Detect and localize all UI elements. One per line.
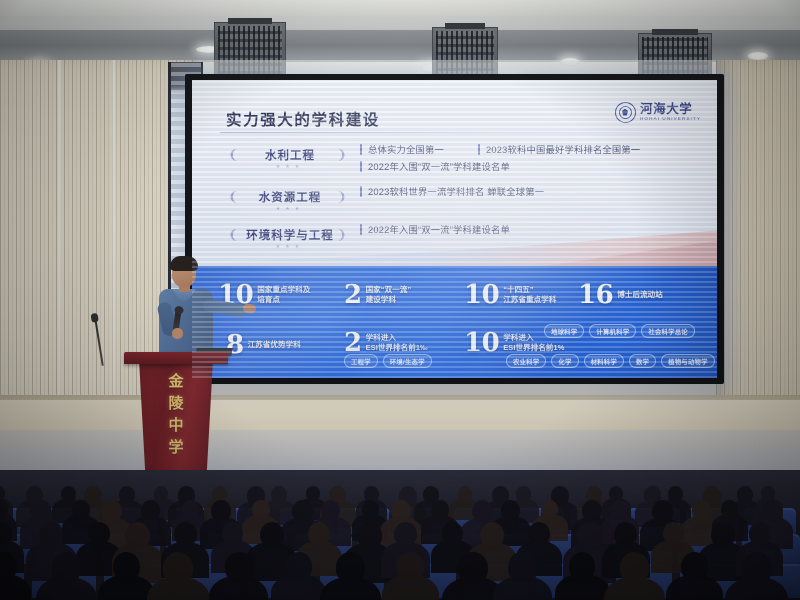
audience-head bbox=[663, 522, 684, 544]
fact-text: 2023软科中国最好学科排名全国第一 bbox=[486, 142, 640, 156]
presenter-hair bbox=[170, 256, 198, 271]
audience-head bbox=[742, 552, 772, 584]
audience-head bbox=[61, 486, 76, 502]
fact-tick bbox=[478, 144, 480, 155]
audience-head bbox=[762, 500, 782, 521]
audience-head bbox=[321, 500, 340, 520]
stat-label: “十四五”江苏省重点学科 bbox=[503, 285, 556, 304]
audience-head bbox=[681, 552, 708, 581]
photo-scene: 实力强大的学科建设 河海大学 HOHAI UNIVERSITY ❨水利工程❩★★… bbox=[0, 0, 800, 600]
stat-label-line: 江苏省优势学科 bbox=[248, 340, 301, 350]
audience-head bbox=[721, 500, 738, 518]
ceiling-upper-slab bbox=[0, 0, 800, 16]
stat-label: 江苏省优势学科 bbox=[248, 340, 301, 350]
audience-head bbox=[611, 500, 629, 519]
fact-text: 2022年入围“双一流”学科建设名单 bbox=[368, 159, 510, 173]
audience-head bbox=[39, 522, 63, 547]
audience-head bbox=[711, 522, 735, 547]
fact-tick bbox=[360, 144, 362, 155]
audience-head bbox=[88, 522, 110, 545]
audience-head bbox=[569, 552, 595, 580]
audience-head bbox=[125, 522, 150, 549]
audience-head bbox=[761, 486, 775, 501]
presenter-mic-hand bbox=[172, 328, 183, 339]
stat-label: 学科进入ESI世界排名前1‰ bbox=[366, 333, 428, 352]
audience-head bbox=[431, 500, 449, 519]
subject-pill: 工程学 bbox=[344, 354, 378, 368]
audience-head bbox=[154, 486, 168, 501]
audience-head bbox=[292, 500, 313, 522]
lectern-top bbox=[124, 352, 228, 364]
audience-head bbox=[692, 500, 711, 520]
audience-head bbox=[260, 522, 284, 547]
discipline-badge: ❨环境科学与工程❩★★★ bbox=[226, 222, 354, 247]
audience-head bbox=[501, 500, 520, 520]
audience-head bbox=[336, 552, 365, 583]
discipline-badge: ❨水利工程❩★★★ bbox=[226, 142, 354, 167]
audience-head bbox=[472, 500, 493, 522]
fact-text: 2023软科世界一流学科排名 蝉联全球第一 bbox=[368, 184, 544, 198]
slide-title: 实力强大的学科建设 bbox=[226, 108, 380, 130]
audience-head bbox=[357, 522, 382, 549]
esi-permille-pill-row: 工程学环境/生态学 bbox=[344, 354, 432, 368]
audience-head bbox=[394, 522, 417, 546]
audience-head bbox=[652, 500, 673, 522]
audience-head bbox=[72, 500, 90, 519]
title-divider bbox=[220, 132, 690, 133]
fact-text: 2022年入围“双一流”学科建设名单 bbox=[368, 222, 510, 236]
stat-item: 2学科进入ESI世界排名前1‰ bbox=[344, 330, 428, 356]
fact-item: 2023软科世界一流学科排名 蝉联全球第一 bbox=[360, 184, 544, 198]
speaker-mount bbox=[228, 18, 273, 24]
discipline-name: 环境科学与工程 bbox=[246, 227, 334, 243]
university-logo: 河海大学 HOHAI UNIVERSITY bbox=[615, 102, 701, 123]
stat-number: 10 bbox=[464, 330, 499, 356]
ceiling-downlight bbox=[748, 52, 768, 60]
audience-head bbox=[620, 552, 649, 583]
discipline-facts: 2023软科世界一流学科排名 蝉联全球第一 bbox=[360, 184, 544, 198]
stat-label-line: 博士后流动站 bbox=[617, 290, 663, 300]
discipline-row: ❨环境科学与工程❩★★★2022年入围“双一流”学科建设名单 bbox=[226, 222, 510, 247]
stat-label-line: 学科进入 bbox=[366, 333, 428, 343]
subject-pill: 农业科学 bbox=[506, 354, 546, 368]
badge-stars-icon: ★★★ bbox=[276, 244, 304, 250]
audience-head bbox=[749, 522, 771, 545]
laurel-right-icon: ❩ bbox=[336, 224, 352, 245]
speaker-mount bbox=[445, 23, 486, 29]
auditorium-seats bbox=[0, 478, 800, 600]
audience-head bbox=[182, 500, 199, 518]
audience-head bbox=[163, 552, 193, 584]
subject-pill: 环境/生态学 bbox=[383, 354, 432, 368]
esi-percent-pill-row-2: 农业科学化学材料科学数学植物与动物学 bbox=[506, 354, 715, 368]
subject-pill: 化学 bbox=[551, 354, 578, 368]
audience-head bbox=[31, 500, 51, 521]
audience-head bbox=[614, 522, 637, 546]
stat-number: 10 bbox=[464, 282, 499, 308]
audience-head bbox=[582, 500, 602, 521]
discipline-facts: 总体实力全国第一2023软科中国最好学科排名全国第一2022年入围“双一流”学科… bbox=[360, 142, 640, 173]
stat-label-line: 国家重点学科及 bbox=[257, 285, 310, 295]
audience-head bbox=[737, 486, 753, 503]
lectern-character: 陵 bbox=[168, 396, 183, 411]
audience-head bbox=[211, 500, 231, 521]
discipline-badge: ❨水资源工程❩★★★ bbox=[226, 184, 354, 209]
stat-number: 16 bbox=[578, 282, 613, 308]
esi-percent-pill-row-1: 地球科学计算机科学社会科学总论 bbox=[544, 324, 695, 338]
laurel-left-icon: ❨ bbox=[228, 144, 244, 165]
stat-label-line: “十四五” bbox=[503, 285, 556, 295]
lectern-school-name: 金陵中学 bbox=[130, 374, 222, 455]
stat-label-line: 江苏省重点学科 bbox=[503, 295, 556, 305]
stat-label-line: 建设学科 bbox=[366, 295, 412, 305]
stat-number: 2 bbox=[344, 330, 362, 356]
audience-head bbox=[458, 486, 472, 501]
discipline-row: ❨水利工程❩★★★总体实力全国第一2023软科中国最好学科排名全国第一2022年… bbox=[226, 142, 640, 173]
hohai-crest-icon bbox=[615, 102, 636, 123]
lectern-character: 学 bbox=[168, 440, 183, 455]
audience-head bbox=[308, 522, 330, 545]
badge-stars-icon: ★★★ bbox=[276, 164, 304, 170]
stat-label-line: ESI世界排名前1‰ bbox=[366, 343, 428, 353]
laurel-left-icon: ❨ bbox=[228, 186, 244, 207]
discipline-facts: 2022年入围“双一流”学科建设名单 bbox=[360, 222, 510, 236]
fact-item: 2022年入围“双一流”学科建设名单 bbox=[360, 222, 510, 236]
fact-item: 总体实力全国第一2023软科中国最好学科排名全国第一 bbox=[360, 142, 640, 156]
stat-number: 2 bbox=[344, 282, 362, 308]
laurel-right-icon: ❩ bbox=[336, 186, 352, 207]
stat-label-line: 国家“双一流” bbox=[366, 285, 412, 295]
audience-head bbox=[397, 552, 424, 581]
fact-tick bbox=[360, 224, 362, 235]
audience-head bbox=[271, 486, 287, 503]
subject-pill: 植物与动物学 bbox=[661, 354, 715, 368]
fact-tick bbox=[360, 161, 362, 172]
statistics-band: 10国家重点学科及培育点2国家“双一流”建设学科10“十四五”江苏省重点学科16… bbox=[192, 266, 717, 378]
logo-name-en: HOHAI UNIVERSITY bbox=[640, 117, 701, 122]
audience-head bbox=[528, 522, 550, 545]
subject-pill: 社会科学总论 bbox=[641, 324, 695, 338]
presenter bbox=[148, 258, 244, 362]
laurel-left-icon: ❨ bbox=[228, 224, 244, 245]
laurel-right-icon: ❩ bbox=[336, 144, 352, 165]
stat-item: 2国家“双一流”建设学科 bbox=[344, 282, 411, 308]
audience-head bbox=[119, 486, 135, 503]
stat-label: 国家“双一流”建设学科 bbox=[366, 285, 412, 304]
audience-head bbox=[668, 486, 683, 502]
auditorium-room: 实力强大的学科建设 河海大学 HOHAI UNIVERSITY ❨水利工程❩★★… bbox=[0, 0, 800, 600]
audience-head bbox=[286, 552, 312, 580]
lectern-character: 中 bbox=[168, 418, 183, 433]
subject-pill: 材料科学 bbox=[584, 354, 624, 368]
audience-head bbox=[541, 500, 558, 518]
discipline-row: ❨水资源工程❩★★★2023软科世界一流学科排名 蝉联全球第一 bbox=[226, 184, 544, 209]
audience-head bbox=[225, 552, 253, 582]
stat-label: 博士后流动站 bbox=[617, 290, 663, 300]
stat-label-line: 培育点 bbox=[257, 295, 310, 305]
audience-head bbox=[508, 552, 536, 582]
subject-pill: 地球科学 bbox=[544, 324, 584, 338]
logo-name-cn: 河海大学 bbox=[640, 103, 701, 116]
audience-head bbox=[101, 500, 122, 522]
presentation-slide: 实力强大的学科建设 河海大学 HOHAI UNIVERSITY ❨水利工程❩★★… bbox=[192, 80, 717, 378]
audience-head bbox=[306, 486, 320, 501]
subject-pill: 计算机科学 bbox=[589, 324, 636, 338]
stat-item: 16博士后流动站 bbox=[578, 282, 663, 308]
audience-head bbox=[458, 552, 488, 584]
discipline-name: 水利工程 bbox=[265, 147, 315, 163]
lectern-character: 金 bbox=[168, 374, 183, 389]
audience-head bbox=[480, 522, 504, 547]
logo-wordmark: 河海大学 HOHAI UNIVERSITY bbox=[640, 103, 701, 122]
audience-head bbox=[141, 500, 160, 520]
audience-head bbox=[174, 522, 197, 546]
fact-text: 总体实力全国第一 bbox=[368, 142, 444, 156]
audience-head bbox=[391, 500, 411, 521]
audience-head bbox=[609, 486, 623, 501]
stat-label: 国家重点学科及培育点 bbox=[257, 285, 310, 304]
stat-item: 10“十四五”江苏省重点学科 bbox=[464, 282, 556, 308]
stat-label-line: ESI世界排名前1% bbox=[503, 343, 564, 353]
audience-head bbox=[252, 500, 270, 519]
audience-head bbox=[113, 552, 140, 581]
discipline-name: 水资源工程 bbox=[259, 189, 322, 205]
audience-head bbox=[222, 522, 243, 544]
lectern: 金陵中学 bbox=[130, 352, 222, 487]
fact-tick bbox=[360, 186, 362, 197]
fact-item: 2022年入围“双一流”学科建设名单 bbox=[360, 159, 640, 173]
badge-stars-icon: ★★★ bbox=[276, 206, 304, 212]
speaker-mount bbox=[652, 29, 698, 35]
audience-head bbox=[362, 500, 379, 518]
audience-head bbox=[52, 552, 81, 583]
audience-head bbox=[577, 522, 602, 549]
subject-pill: 数学 bbox=[629, 354, 656, 368]
audience-head bbox=[442, 522, 463, 544]
audience-head bbox=[516, 486, 531, 502]
